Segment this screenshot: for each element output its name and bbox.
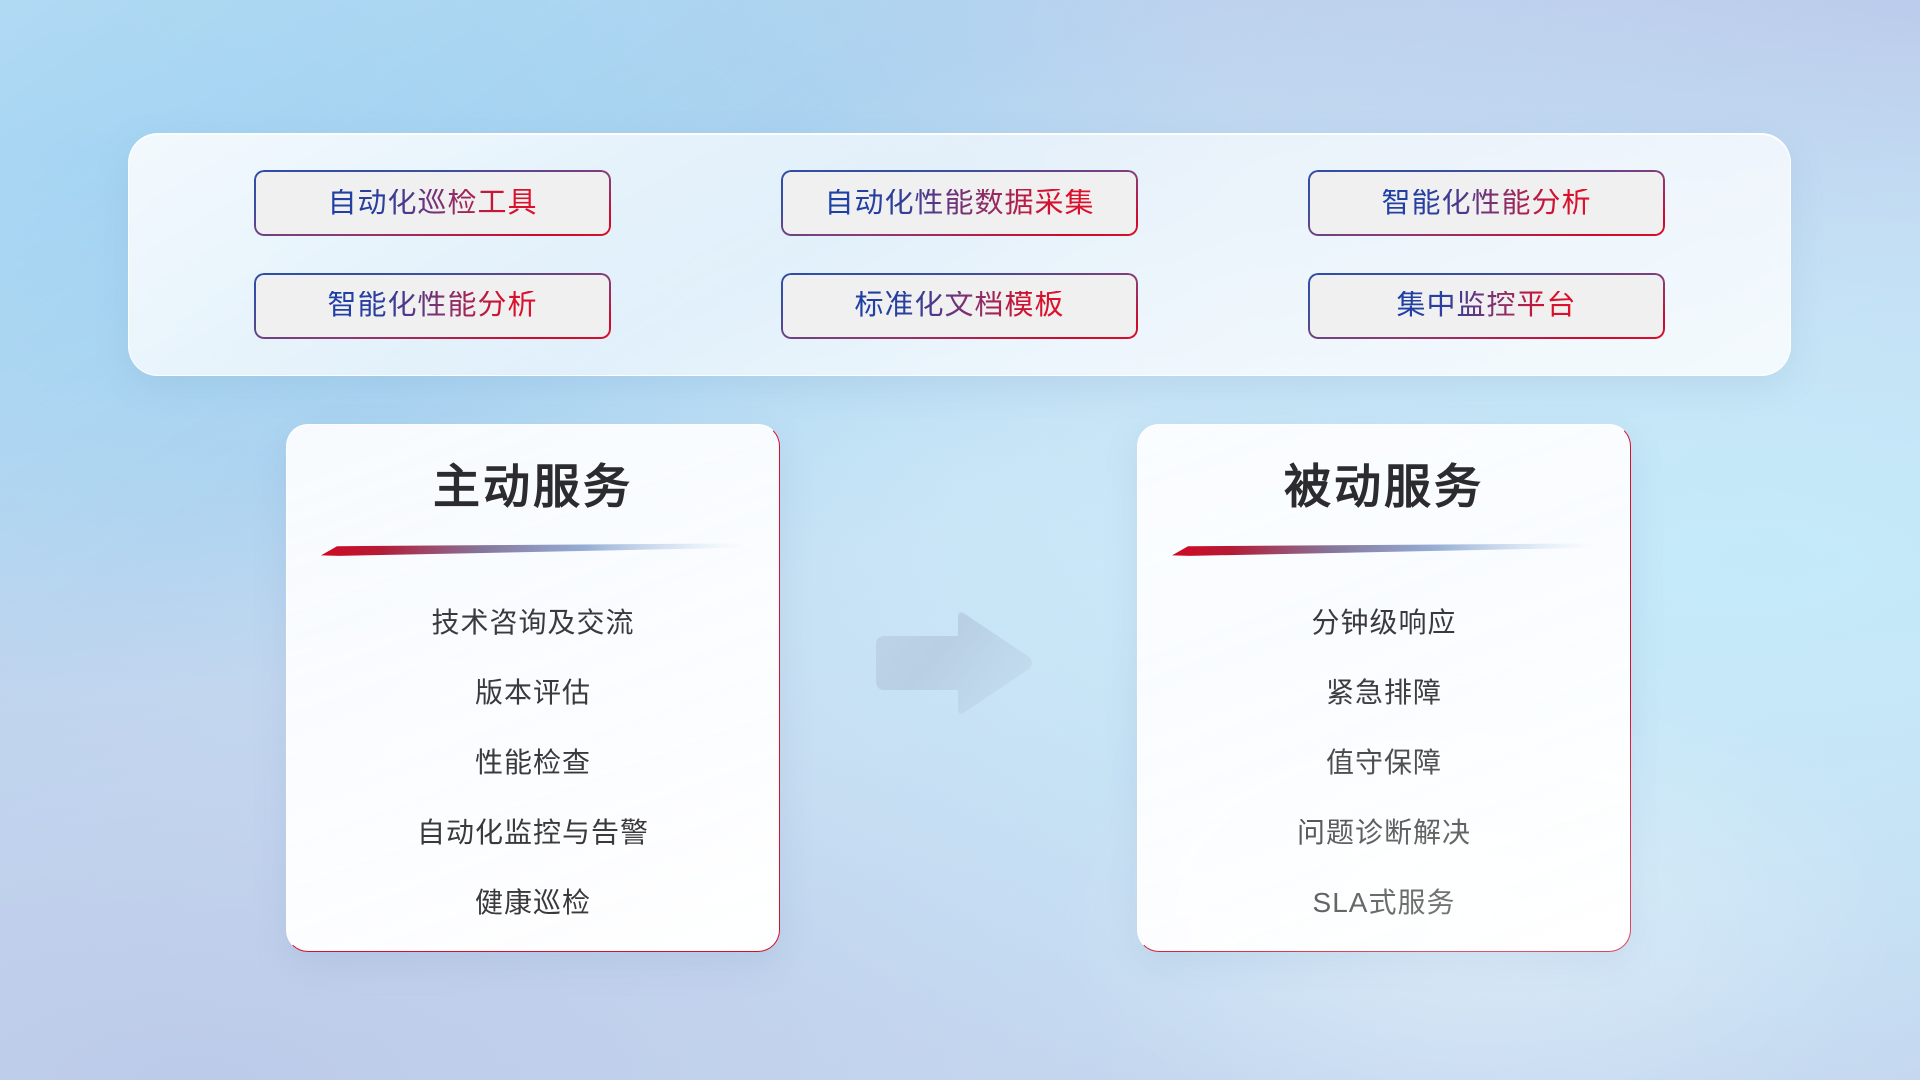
list-item: 性能检查 xyxy=(313,728,753,798)
list-item: 值守保障 xyxy=(1164,728,1604,798)
service-item-list: 分钟级响应 紧急排障 值守保障 问题诊断解决 SLA式服务 xyxy=(1164,588,1604,938)
capability-tag[interactable]: 智能化性能分析 xyxy=(1308,170,1665,236)
card-title: 被动服务 xyxy=(1284,461,1484,513)
capability-tag[interactable]: 智能化性能分析 xyxy=(254,273,611,339)
reactive-service-card: 被动服务 分钟级响应 紧急排障 值守保障 xyxy=(1137,424,1631,952)
service-item-list: 技术咨询及交流 版本评估 性能检查 自动化监控与告警 健康巡检 xyxy=(313,588,753,938)
proactive-service-card: 主动服务 技术咨询及交流 版本评估 性能检查 xyxy=(286,424,780,952)
arrow-right-icon xyxy=(872,609,1034,717)
capability-tag-label: 集中监控平台 xyxy=(1396,291,1576,320)
list-item: 紧急排障 xyxy=(1164,658,1604,728)
list-item: 自动化监控与告警 xyxy=(313,798,753,868)
list-item: 技术咨询及交流 xyxy=(313,588,753,658)
capability-tag-label: 智能化性能分析 xyxy=(1381,189,1591,218)
slide-canvas: 自动化巡检工具 自动化性能数据采集 智能化性能分析 智能化性能分析 标准化文档模… xyxy=(0,0,1920,1080)
list-item: SLA式服务 xyxy=(1164,868,1604,938)
capability-tag-label: 自动化巡检工具 xyxy=(327,189,537,218)
title-divider-bar xyxy=(1172,543,1597,556)
list-item: 问题诊断解决 xyxy=(1164,798,1604,868)
list-item: 健康巡检 xyxy=(313,868,753,938)
list-item: 版本评估 xyxy=(313,658,753,728)
capability-tag-label: 智能化性能分析 xyxy=(327,291,537,320)
capability-tag[interactable]: 集中监控平台 xyxy=(1308,273,1665,339)
capability-tag-label: 标准化文档模板 xyxy=(854,291,1064,320)
list-item: 分钟级响应 xyxy=(1164,588,1604,658)
capability-tag[interactable]: 自动化巡检工具 xyxy=(254,170,611,236)
title-divider-bar xyxy=(321,543,746,556)
capability-tags-panel: 自动化巡检工具 自动化性能数据采集 智能化性能分析 智能化性能分析 标准化文档模… xyxy=(128,133,1791,376)
capability-tag[interactable]: 自动化性能数据采集 xyxy=(781,170,1138,236)
capability-tag[interactable]: 标准化文档模板 xyxy=(781,273,1138,339)
capability-tag-label: 自动化性能数据采集 xyxy=(824,189,1094,218)
card-title: 主动服务 xyxy=(433,461,633,513)
